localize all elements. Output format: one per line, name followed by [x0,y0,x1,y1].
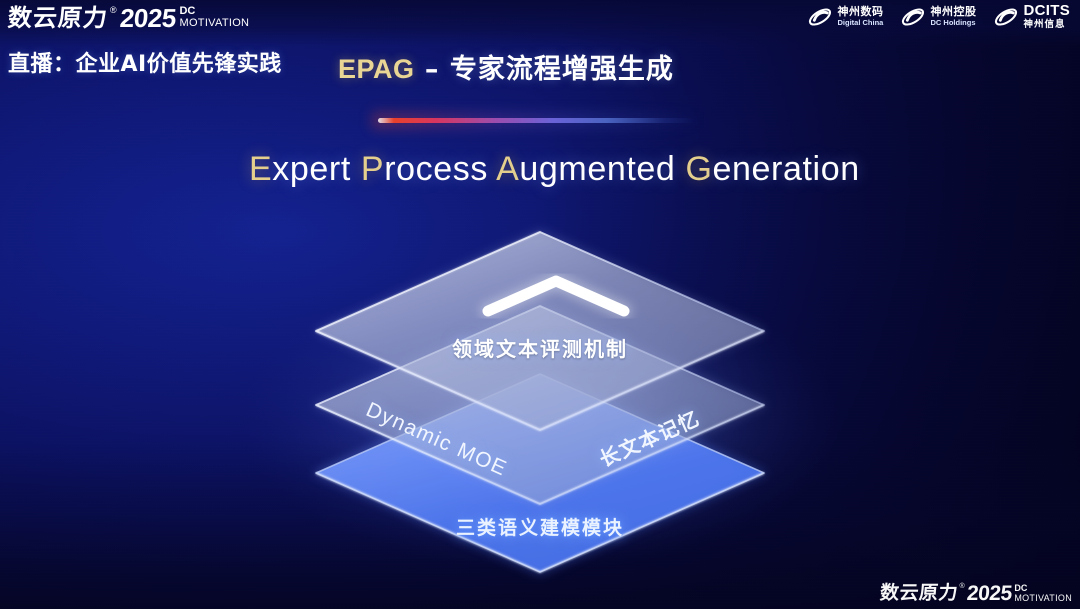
partner-name-en: Digital China [838,18,884,28]
subtitle-english: Expert Process Augmented Generation [249,150,860,189]
partner-name-cn: 神州信息 [1024,19,1071,30]
brand-dc-motivation: DC MOTIVATION [1014,582,1072,604]
subtitle-rest-augmented: ugmented [519,150,675,188]
title-separator: – [415,54,450,85]
swirl-logo-icon [993,4,1019,30]
partner-name-en: DC Holdings [931,18,977,28]
partner-logo-dcits: DCITS 神州信息 [993,3,1071,30]
swirl-logo-icon [807,4,833,30]
partner-label-group: 神州数码 Digital China [838,6,884,28]
subtitle-rest-generation: eneration [713,150,860,188]
registered-mark-icon: ® [959,582,964,592]
page-title: EPAG – 专家流程增强生成 [338,52,674,87]
subtitle-cap-a: A [496,150,519,188]
title-acronym: EPAG [338,54,415,84]
brand-name-cn: 数云原力 [7,4,109,32]
brand-logo-bottomright: 数云原力 ® 2025 DC MOTIVATION [880,582,1072,605]
subtitle-cap-e: E [249,150,272,188]
partner-name-cn: 神州控股 [931,6,977,18]
subtitle-rest-expert: xpert [272,150,351,188]
registered-mark-icon: ® [110,4,117,17]
slide-canvas: 数云原力 ® 2025 DC MOTIVATION 直播：企业AI价值先锋实践 … [0,0,1080,609]
brand-dc-label: DC [1014,584,1072,593]
brand-name-cn: 数云原力 [879,582,959,605]
partner-logo-group: 神州数码 Digital China 神州控股 DC Holdings DCIT… [807,3,1071,30]
brand-logo-topleft: 数云原力 ® 2025 DC MOTIVATION [8,4,249,32]
stack-label-bottom: 三类语义建模模块 [0,513,1080,540]
live-session-title: 直播：企业AI价值先锋实践 [8,46,282,78]
swirl-logo-icon [900,4,926,30]
brand-motivation-label: MOTIVATION [179,17,249,30]
partner-label-group: 神州控股 DC Holdings [931,6,977,28]
subtitle-cap-p: P [361,150,384,188]
brand-dc-motivation: DC MOTIVATION [179,4,249,30]
partner-logo-digital-china: 神州数码 Digital China [807,4,884,30]
brand-motivation-label: MOTIVATION [1014,593,1072,604]
partner-name-cn: 神州数码 [838,6,884,18]
stack-label-top: 领域文本评测机制 [0,333,1080,362]
brand-year: 2025 [966,582,1013,605]
title-chinese: 专家流程增强生成 [450,54,674,85]
partner-name-en: DCITS [1024,3,1071,19]
gradient-divider [378,118,696,123]
brand-year: 2025 [118,4,176,32]
partner-logo-dc-holdings: 神州控股 DC Holdings [900,4,977,30]
subtitle-rest-process: rocess [384,150,488,188]
subtitle-cap-g: G [685,150,712,188]
partner-label-group: DCITS 神州信息 [1024,3,1071,30]
brand-dc-label: DC [179,6,249,17]
